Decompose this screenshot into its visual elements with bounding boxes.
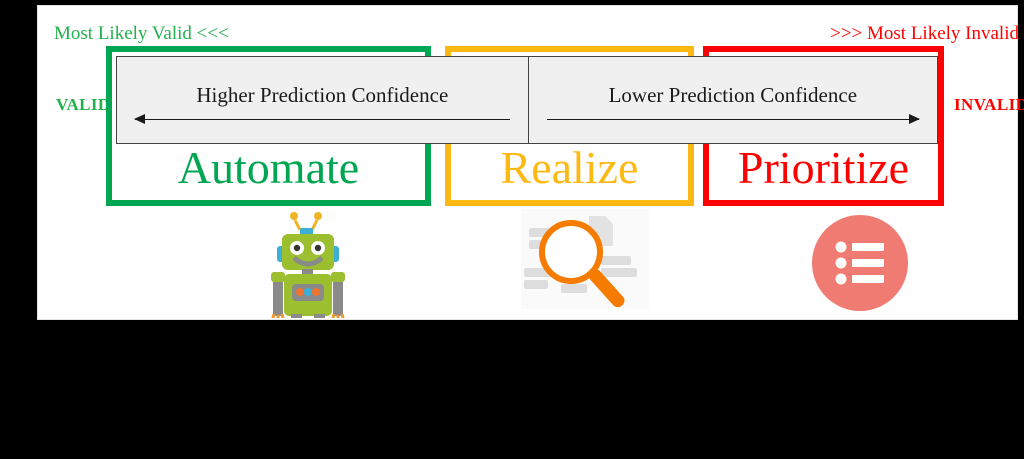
phase-label-prioritize: Prioritize [709, 138, 938, 198]
phase-label-automate: Automate [112, 138, 425, 198]
lower-prediction-confidence-label: Lower Prediction Confidence [529, 83, 937, 108]
invalid-axis-label: INVALID [954, 95, 1024, 115]
most-likely-invalid-label: >>> Most Likely Invalid [830, 23, 1019, 45]
left-arrow-icon [135, 114, 510, 126]
magnifying-glass-documents-icon [500, 206, 675, 321]
right-arrow-icon [547, 114, 919, 126]
bulleted-list-circle-icon [771, 211, 949, 321]
most-likely-valid-label: Most Likely Valid <<< [54, 23, 229, 45]
robot-icon [248, 210, 368, 320]
arrow-line [547, 119, 919, 120]
strip-cell-lower-confidence: Lower Prediction Confidence [529, 57, 937, 143]
valid-axis-label: VALID [56, 95, 111, 115]
screenshot-root: Most Likely Valid <<< >>> Most Likely In… [0, 0, 1024, 459]
arrow-head-left [134, 114, 145, 124]
arrow-line [135, 119, 510, 120]
diagram-card: Most Likely Valid <<< >>> Most Likely In… [37, 5, 1018, 320]
strip-cell-higher-confidence: Higher Prediction Confidence [117, 57, 529, 143]
phase-label-realize: Realize [451, 138, 688, 198]
higher-prediction-confidence-label: Higher Prediction Confidence [117, 83, 528, 108]
prediction-confidence-strip: Higher Prediction Confidence Lower Predi… [116, 56, 938, 144]
arrow-head-right [909, 114, 920, 124]
